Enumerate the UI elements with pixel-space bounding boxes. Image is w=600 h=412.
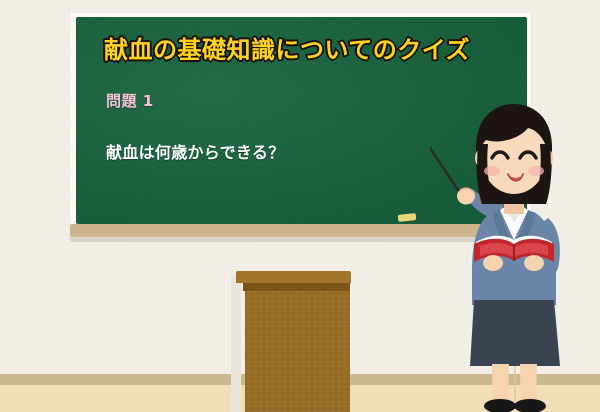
- teacher-head: [475, 104, 553, 204]
- question-number-label: 問題 1: [106, 90, 154, 111]
- podium-band: [243, 283, 350, 291]
- podium-top: [236, 271, 351, 283]
- teacher-skirt: [470, 300, 560, 366]
- teacher-figure: [430, 100, 600, 412]
- quiz-title: 献血の基礎知識についてのクイズ: [104, 30, 470, 65]
- podium-shadow: [231, 276, 241, 412]
- classroom-quiz-illustration: 献血の基礎知識についてのクイズ 問題 1 献血は何歳からできる？: [0, 0, 600, 412]
- podium-body: [245, 291, 350, 412]
- question-text: 献血は何歳からできる？: [106, 139, 285, 163]
- pointer-stick-icon: [430, 130, 462, 196]
